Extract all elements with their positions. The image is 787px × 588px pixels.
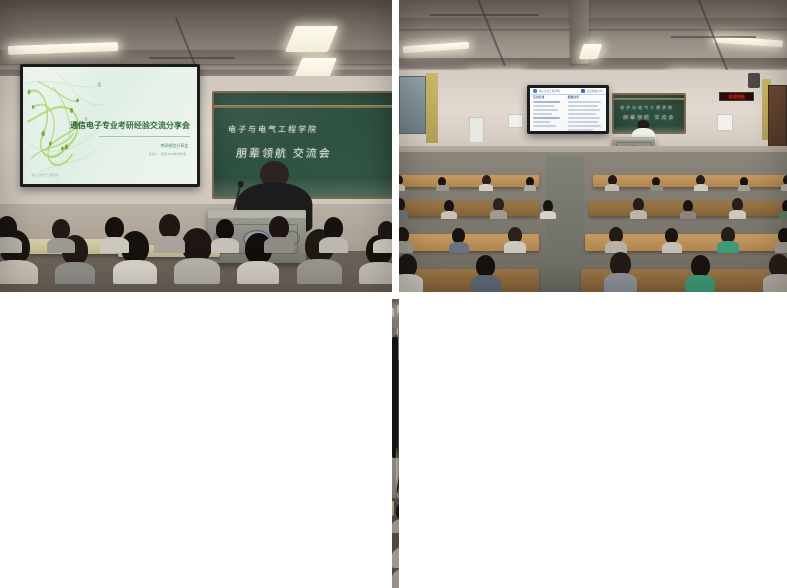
- ceiling-fan-icon: [149, 50, 235, 65]
- slide-logo-icon: [581, 89, 585, 93]
- slide-column-left: 活动安排: [533, 95, 563, 132]
- audience: [399, 152, 787, 292]
- slide-column-heading: 经验分享: [568, 95, 603, 99]
- slide-title: 通信电子专业考研经验交流分享会: [70, 120, 190, 131]
- slide-subtitle: 考研经验分享会: [160, 143, 188, 149]
- door: [768, 85, 787, 149]
- projector-screen: 通信电子专业考研经验交流分享会 考研经验分享会 主讲人：张浩 2023年6月8日…: [20, 64, 200, 187]
- led-sign: 欢迎光临: [719, 92, 754, 101]
- chalk-text-line1: 电子与电气工程学院: [228, 124, 319, 135]
- audience: [392, 490, 399, 588]
- wall-speaker-icon: [748, 73, 760, 88]
- wall-poster: [508, 114, 524, 129]
- led-sign-text: 欢迎光临: [729, 94, 745, 100]
- audience: [0, 210, 392, 292]
- projector-screen: 电子信息工程学院 武汉纺织大学 活动安排: [527, 85, 608, 135]
- chalk-text-line2: 朋辈领航 交流会: [235, 145, 332, 161]
- wall-poster: [469, 117, 485, 143]
- slide-header-left: 电子信息工程学院: [533, 89, 560, 93]
- slide-logo-icon: [533, 89, 537, 93]
- slide-corner-label: 电子与电气工程学院: [31, 173, 58, 177]
- slide-column-right: 经验分享: [568, 95, 603, 132]
- photo-collage: 电子与电气工程学院 朋辈领航 交流会: [0, 0, 787, 588]
- chalk-text-line1: 电子与电气工程学院: [620, 105, 675, 111]
- slide-header-right: 武汉纺织大学: [581, 89, 603, 93]
- fluorescent-tube-icon: [397, 305, 399, 314]
- window: [399, 76, 426, 134]
- slide-document: 电子信息工程学院 武汉纺织大学 活动安排: [530, 88, 605, 132]
- slide-network-title: 通信电子专业考研经验交流分享会 考研经验分享会 主讲人：张浩 2023年6月8日…: [23, 67, 197, 184]
- photo-bottom-left[interactable]: 电子与电气工程学院 朋辈领航 交流会 SNR = 32dB Δf = 360Hz…: [392, 299, 399, 588]
- curtain: [426, 73, 438, 143]
- wall-poster: [717, 114, 733, 132]
- ceiling-fan-icon: [671, 29, 756, 44]
- slide-column-heading: 活动安排: [533, 95, 563, 99]
- slide-meta: 主讲人：张浩 2023年6月8日: [149, 152, 187, 156]
- photo-top-left[interactable]: 电子与电气工程学院 朋辈领航 交流会: [0, 0, 392, 292]
- photo-top-right[interactable]: 欢迎光临 电子与电气工程学院 朋辈领航 交流会 电子信息工程学院: [399, 0, 787, 292]
